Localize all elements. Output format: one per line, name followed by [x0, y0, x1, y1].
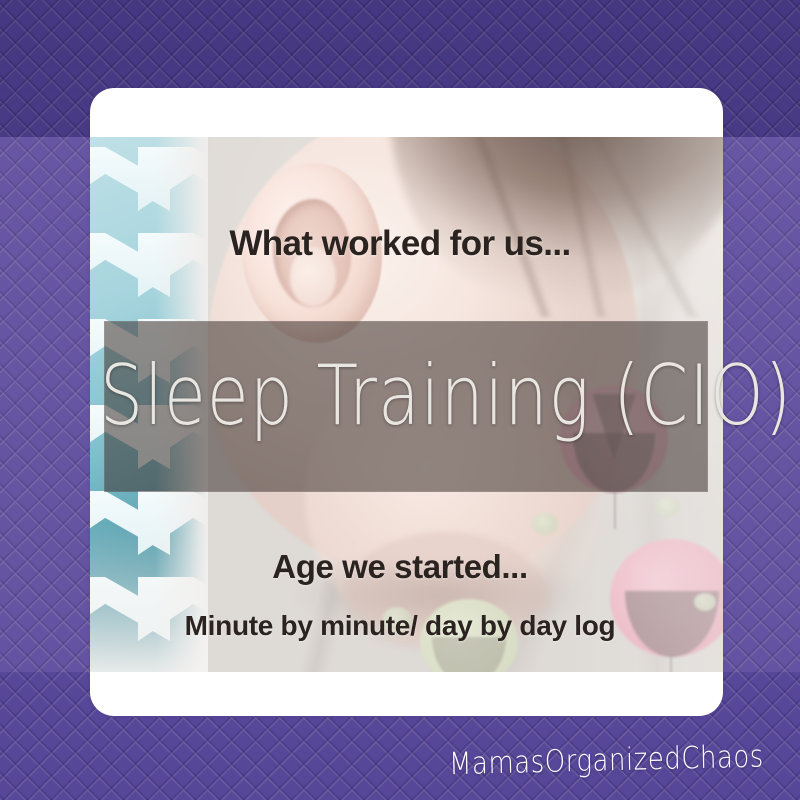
page-title: Sleep Training (CIO): [100, 348, 720, 444]
headline-text: What worked for us...: [0, 224, 800, 264]
pin-canvas: What worked for us... Sleep Training (CI…: [0, 0, 800, 800]
subline-text: Minute by minute/ day by day log: [0, 610, 800, 642]
blanket-bottom-fade: [90, 522, 208, 672]
subheadline-text: Age we started...: [0, 548, 800, 586]
